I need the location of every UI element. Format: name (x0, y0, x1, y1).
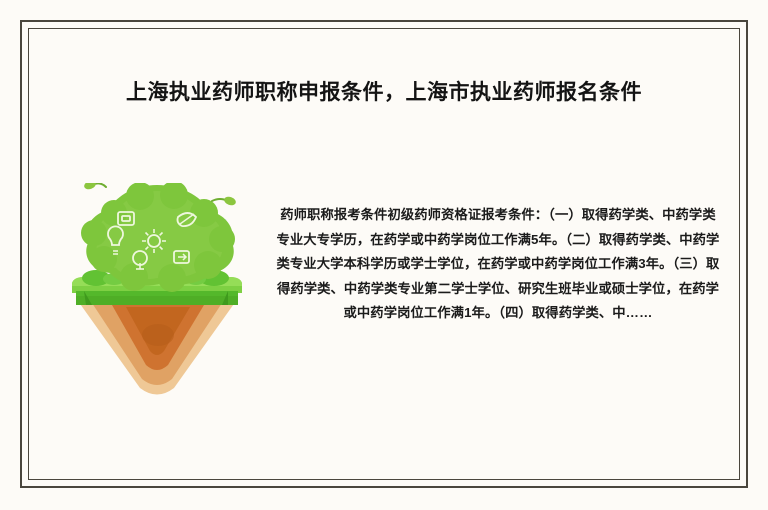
page-title: 上海执业药师职称申报条件，上海市执业药师报名条件 (0, 78, 768, 108)
article-body: 药师职称报考条件初级药师资格证报考条件：（一）取得药学类、中药学类专业大专学历，… (274, 203, 730, 326)
article-text: 药师职称报考条件初级药师资格证报考条件：（一）取得药学类、中药学类专业大专学历，… (274, 203, 722, 326)
page-root: 上海执业药师职称申报条件，上海市执业药师报名条件 (0, 0, 768, 510)
content-row: ECO (40, 175, 730, 425)
sprout-top-left (83, 183, 106, 191)
illustration-eco-island: ECO (62, 183, 252, 398)
sprout-top-right (212, 195, 237, 207)
soil-group (78, 301, 236, 395)
